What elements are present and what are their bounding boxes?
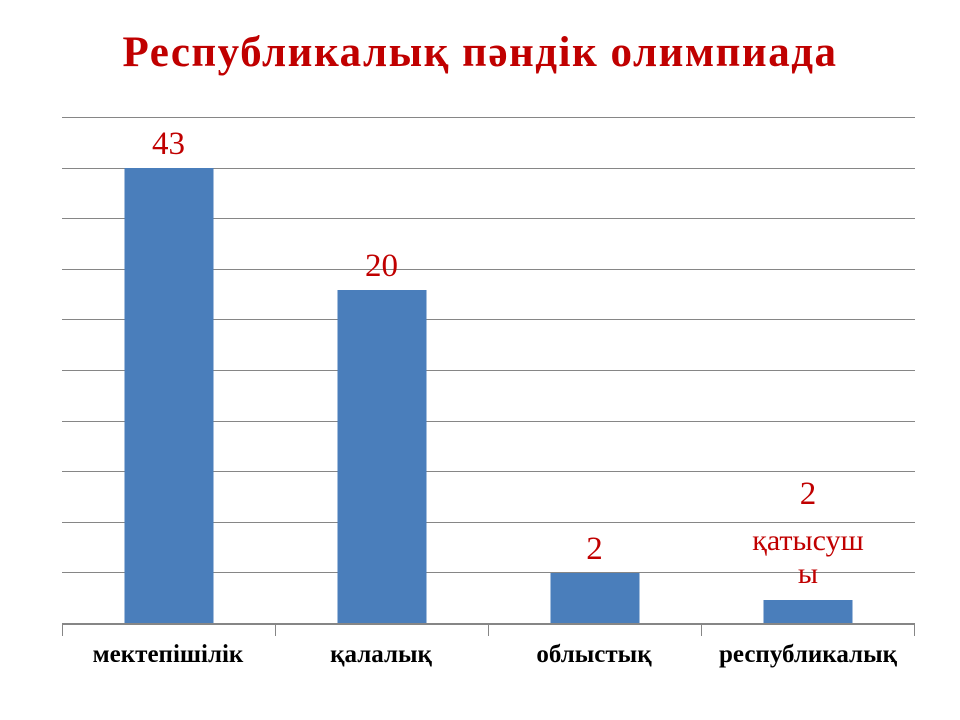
axis-tick-1: [275, 623, 276, 636]
bar-qalalyq[interactable]: [337, 290, 426, 623]
bar-value-1: 43: [152, 128, 185, 161]
bar-slot-4: 2 қатысушы: [701, 117, 915, 623]
bar-slot-3: 2: [488, 117, 701, 623]
category-label-respublikalyq: республикалық: [719, 641, 897, 669]
axis-tick-3: [701, 623, 702, 636]
axis-tick-2: [488, 623, 489, 636]
bar-value-2: 20: [365, 250, 398, 283]
chart-slide: Республикалық пәндік олимпиада 43 20: [0, 0, 960, 720]
category-label-oblystyq: облыстық: [536, 641, 651, 669]
plot-area: 43 20 2 2 қатысушы: [62, 117, 915, 623]
bar-mektepishilik[interactable]: [124, 168, 213, 623]
bar-oblystyq[interactable]: [550, 573, 639, 623]
category-axis-labels: мектепішілік қалалық облыстық республика…: [62, 641, 915, 681]
bar-value-3: 2: [586, 533, 603, 566]
axis-tick-4: [914, 623, 915, 636]
bar-respublikalyq[interactable]: [764, 600, 853, 623]
category-label-qalalyq: қалалық: [330, 641, 432, 669]
page-title: Республикалық пәндік олимпиада: [0, 28, 960, 77]
bar-slot-2: 20: [275, 117, 488, 623]
series-name-label: қатысушы: [751, 524, 866, 591]
axis-tick-0: [62, 623, 63, 636]
category-label-mektepishilik: мектепішілік: [93, 641, 244, 669]
bar-slot-1: 43: [62, 117, 275, 623]
bar-value-4: 2: [800, 478, 817, 511]
bars-layer: 43 20 2 2 қатысушы: [62, 117, 915, 623]
